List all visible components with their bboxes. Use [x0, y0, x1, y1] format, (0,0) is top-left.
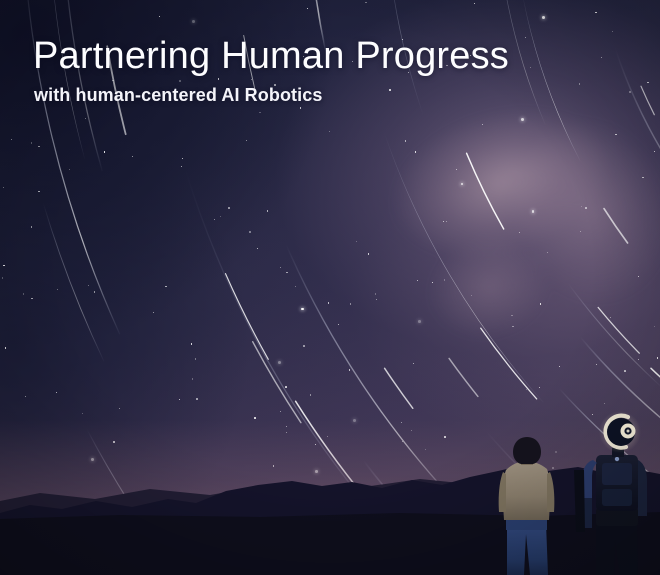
robot-far-limb [574, 470, 585, 532]
robot-right-arm [638, 460, 647, 516]
human-figure [499, 437, 555, 575]
robot-legs [596, 522, 638, 575]
robot-figure [574, 411, 647, 575]
page-subtitle: with human-centered AI Robotics [34, 85, 509, 107]
hero-copy: Partnering Human Progress with human-cen… [33, 36, 509, 107]
human-jacket [503, 461, 551, 520]
robot-eye-pupil [627, 430, 630, 433]
hero-banner: Partnering Human Progress with human-cen… [0, 0, 660, 575]
human-head [513, 437, 541, 464]
page-title: Partnering Human Progress [33, 36, 509, 77]
human-jeans [507, 523, 548, 575]
human-left-arm [499, 472, 506, 512]
robot-abdomen-panel [602, 489, 632, 506]
robot-chest-light [615, 457, 619, 461]
human-right-arm [547, 472, 554, 512]
robot-chest-panel [602, 463, 632, 485]
